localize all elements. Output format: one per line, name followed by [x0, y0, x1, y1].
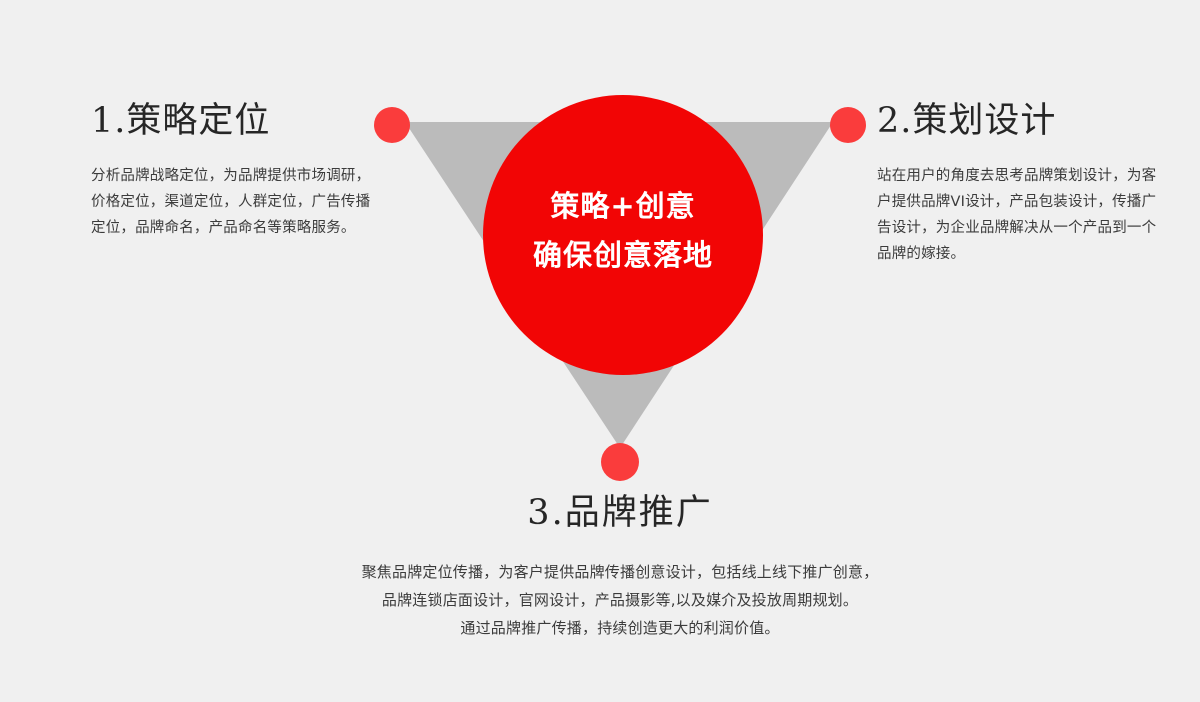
node-dot-top-right-shape[interactable]: [830, 107, 866, 143]
step-1-heading: 1.策略定位: [91, 100, 270, 142]
step-3-body-line-2: 品牌连锁店面设计，官网设计，产品摄影等,以及媒介及投放周期规划。: [0, 586, 1200, 614]
infographic-canvas: 策略+创意 确保创意落地 1.策略定位 分析品牌战略定位，为品牌提供市场调研，价…: [0, 0, 1200, 702]
center-red-circle: [483, 95, 763, 375]
step-3-heading: 3.品牌推广: [0, 492, 1200, 534]
step-3-body: 聚焦品牌定位传播，为客户提供品牌传播创意设计，包括线上线下推广创意， 品牌连锁店…: [0, 558, 1200, 642]
node-dot-top-left-shape[interactable]: [374, 107, 410, 143]
node-dot-bottom-shape[interactable]: [601, 443, 639, 481]
step-3-body-line-3: 通过品牌推广传播，持续创造更大的利润价值。: [0, 614, 1200, 642]
step-1-body: 分析品牌战略定位，为品牌提供市场调研，价格定位，渠道定位，人群定位，广告传播定位…: [91, 163, 379, 241]
step-3-body-line-1: 聚焦品牌定位传播，为客户提供品牌传播创意设计，包括线上线下推广创意，: [0, 558, 1200, 586]
step-2-heading: 2.策划设计: [877, 100, 1056, 142]
step-2-body: 站在用户的角度去思考品牌策划设计，为客户提供品牌VI设计，产品包装设计，传播广告…: [877, 163, 1169, 267]
